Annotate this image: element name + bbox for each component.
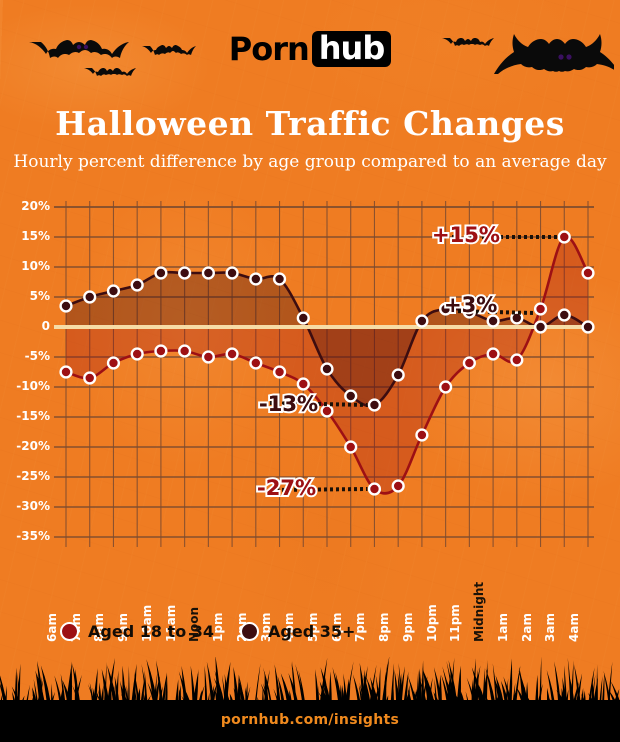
annotation-text: -13%: [259, 392, 318, 416]
x-axis-tick: 6am: [45, 613, 59, 642]
logo-text-hub: hub: [312, 31, 391, 67]
annotation-label: +15%+15%: [432, 223, 500, 247]
x-axis-tick: 10pm: [425, 604, 439, 642]
legend-color-swatch: [240, 622, 259, 641]
y-axis-tick: 10%: [6, 259, 50, 273]
x-axis-tick: 9pm: [401, 613, 415, 642]
annotation-label: +3%+3%: [444, 293, 497, 317]
y-axis-tick: -25%: [6, 469, 50, 483]
x-axis-tick: 11pm: [448, 604, 462, 642]
pornhub-logo[interactable]: Pornhub: [0, 31, 620, 67]
annotation-text: -27%: [257, 476, 316, 500]
x-axis-tick: 3am: [543, 613, 557, 642]
annotation-label: -13%-13%: [259, 392, 318, 416]
y-axis-tick: -5%: [6, 349, 50, 363]
line-chart: [0, 195, 620, 560]
x-axis-tick: 4am: [567, 613, 581, 642]
y-axis-tick: -20%: [6, 439, 50, 453]
y-axis-tick: -30%: [6, 499, 50, 513]
y-axis-tick: -15%: [6, 409, 50, 423]
y-axis-tick: -10%: [6, 379, 50, 393]
page-title: Halloween Traffic Changes: [0, 104, 620, 143]
chart-area: [0, 195, 620, 560]
bat-icon: [82, 64, 138, 86]
x-axis-tick: 7pm: [353, 613, 367, 642]
y-axis-tick: 0: [6, 319, 50, 333]
footer-url[interactable]: pornhub.com/insights: [0, 712, 620, 728]
annotation-text: +3%: [444, 293, 497, 317]
page-subtitle: Hourly percent difference by age group c…: [0, 152, 620, 172]
x-axis-tick: 2am: [520, 613, 534, 642]
y-axis-tick: 20%: [6, 199, 50, 213]
annotation-text: +15%: [432, 223, 500, 247]
chart-legend: Aged 18 to 34Aged 35+: [60, 622, 355, 641]
legend-label: Aged 18 to 34: [88, 622, 214, 641]
annotation-label: -27%-27%: [257, 476, 316, 500]
x-axis-tick: 1am: [496, 613, 510, 642]
y-axis-tick: 15%: [6, 229, 50, 243]
legend-label: Aged 35+: [268, 622, 355, 641]
y-axis-tick: 5%: [6, 289, 50, 303]
legend-color-swatch: [60, 622, 79, 641]
infographic-page: Pornhub Halloween Traffic Changes Hourly…: [0, 0, 620, 742]
logo-text-porn: Porn: [229, 33, 309, 65]
x-axis-tick: 8pm: [377, 613, 391, 642]
grass-silhouette: [0, 657, 620, 742]
y-axis-tick: -35%: [6, 529, 50, 543]
x-axis-tick: Midnight: [472, 582, 486, 642]
legend-item[interactable]: Aged 35+: [240, 622, 355, 641]
legend-item[interactable]: Aged 18 to 34: [60, 622, 214, 641]
